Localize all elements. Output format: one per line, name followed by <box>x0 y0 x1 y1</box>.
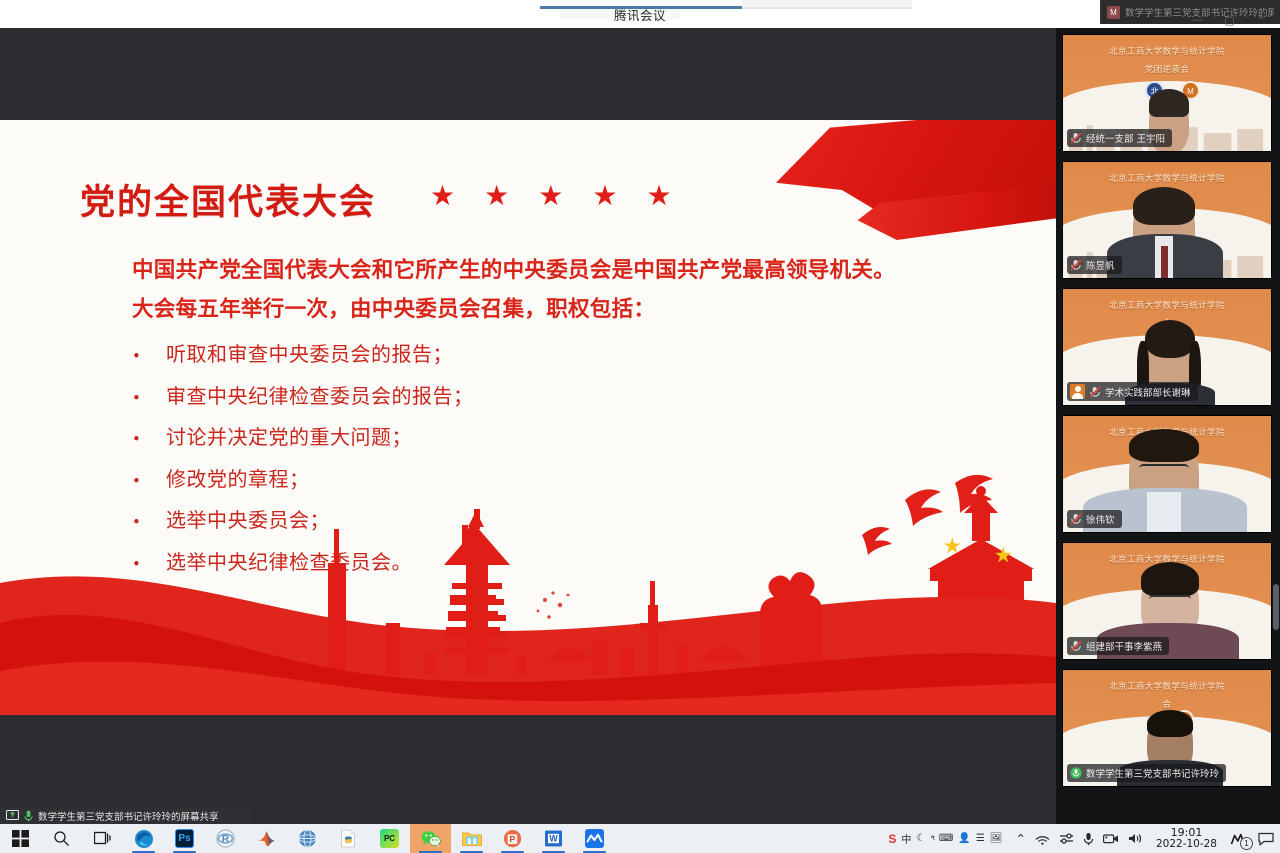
background-window-icon: M <box>1107 6 1120 19</box>
taskbar-apps: Ps R <box>0 824 615 853</box>
list-item-label: 审查中央纪律检查委员会的报告； <box>166 380 474 409</box>
shared-screen-stage: 党的全国代表大会 ★ ★ ★ ★ ★ 中国共产党全国代表大会和它所产生的中央委员… <box>0 28 1056 824</box>
ime-shape-icon[interactable]: °ͭ <box>930 834 934 844</box>
app-title: 腾讯会议 <box>0 5 1280 24</box>
rstudio-app[interactable]: R <box>205 824 246 853</box>
edge-app[interactable] <box>123 824 164 853</box>
list-item-label: 听取和审查中央委员会的报告； <box>166 338 453 367</box>
settings-sliders-icon[interactable] <box>1059 832 1074 845</box>
virtual-bg-title: 北京工商大学数学与统计学院 <box>1063 680 1271 692</box>
volume-icon[interactable] <box>1128 832 1143 845</box>
share-status-text: 数学学生第三党支部书记许玲玲的屏幕共享 <box>38 809 219 823</box>
participant-name-badge: 徐伟钦 <box>1067 510 1122 528</box>
search-button[interactable] <box>41 824 82 853</box>
ime-moon-icon[interactable]: ☾ <box>916 833 925 844</box>
mic-on-icon <box>1070 767 1082 779</box>
start-button[interactable] <box>0 824 41 853</box>
participant-name: 陈昱帆 <box>1086 258 1115 272</box>
windows-start-icon <box>12 830 29 847</box>
participant-name-badge: 组建部干事李紫燕 <box>1067 637 1169 655</box>
mic-muted-icon <box>1070 259 1082 271</box>
star-row: ★ ★ ★ ★ ★ <box>430 182 672 210</box>
search-icon <box>53 830 70 847</box>
notification-count: 1 <box>1240 837 1253 850</box>
mic-on-icon <box>24 810 33 822</box>
powerpoint-app[interactable]: P <box>492 824 533 853</box>
matlab-icon <box>257 829 276 848</box>
minimize-button[interactable]: — <box>1191 14 1202 26</box>
mic-muted-icon <box>1070 640 1082 652</box>
star-icon: ★ <box>538 182 563 210</box>
participant-name: 学术实践部部长谢琳 <box>1105 385 1191 399</box>
file-explorer-app[interactable] <box>451 824 492 853</box>
participant-tile[interactable]: 北京工商大学数学与统计学院 陈昱帆 <box>1062 161 1272 279</box>
word-app[interactable]: W <box>533 824 574 853</box>
windows-taskbar: Ps R <box>0 824 1280 853</box>
mic-muted-icon <box>1070 132 1082 144</box>
ime-menu-icon[interactable]: ☰ <box>976 833 985 844</box>
bullet-icon: • <box>132 389 166 407</box>
ime-toolbar[interactable]: S 中 ☾ °ͭ ⌨ 👤 ☰ 🖼 <box>888 831 1002 846</box>
star-icon: ★ <box>646 182 671 210</box>
microphone-icon[interactable] <box>1083 832 1094 846</box>
star-icon: ★ <box>430 182 455 210</box>
ime-user-icon[interactable]: 👤 <box>958 833 970 844</box>
task-view-button[interactable] <box>82 824 123 853</box>
tray-overflow-button[interactable]: ⌃ <box>1015 831 1025 846</box>
pycharm-app[interactable]: PC <box>369 824 410 853</box>
pycharm-icon: PC <box>380 829 399 848</box>
background-app-strip: 腾讯会议 <box>0 0 1280 28</box>
glasses-icon <box>1139 464 1189 473</box>
ime-keyboard-icon[interactable]: ⌨ <box>939 833 953 844</box>
star-icon: ★ <box>484 182 509 210</box>
tencent-meeting-icon <box>585 829 604 848</box>
photoshop-app[interactable]: Ps <box>164 824 205 853</box>
camera-icon[interactable] <box>1103 833 1119 844</box>
wechat-icon <box>421 830 441 848</box>
task-view-icon <box>94 830 111 847</box>
meeting-window: 党的全国代表大会 ★ ★ ★ ★ ★ 中国共产党全国代表大会和它所产生的中央委员… <box>0 28 1280 824</box>
list-item: • 讨论并决定党的重大问题； <box>132 421 474 463</box>
clock-date: 2022-10-28 <box>1156 839 1217 851</box>
ime-screenshot-icon[interactable]: 🖼 <box>990 833 1003 844</box>
mic-muted-icon <box>1070 513 1082 525</box>
wechat-app[interactable] <box>410 824 451 853</box>
powerpoint-icon: P <box>503 829 522 848</box>
virtual-bg-title: 北京工商大学数学与统计学院 <box>1063 172 1271 184</box>
participant-video-rail[interactable]: 北京工商大学数学与统计学院 党团逆袭会 北 M 经统一支部 王宇阳 <box>1056 28 1280 824</box>
virtual-bg-title: 北京工商大学数学与统计学院 <box>1063 299 1271 311</box>
participant-tie <box>1161 246 1168 278</box>
skyline-illustration <box>0 465 1056 715</box>
edge-icon <box>134 829 154 849</box>
virtual-bg-title: 北京工商大学数学与统计学院 <box>1063 45 1271 57</box>
participant-tile[interactable]: 北京工商大学数学与统计学院 会 M 数学学生第三党支部书记许玲玲 <box>1062 669 1272 787</box>
glasses-icon <box>1149 595 1191 604</box>
participant-shirt <box>1147 492 1181 532</box>
participant-tile[interactable]: 北京工商大学数学与统计学院 徐伟钦 <box>1062 415 1272 533</box>
list-item: • 审查中央纪律检查委员会的报告； <box>132 380 474 422</box>
svg-text:R: R <box>222 834 230 845</box>
virtual-bg-subtitle: 党团逆袭会 <box>1063 63 1271 75</box>
participant-name-badge: 数学学生第三党支部书记许玲玲 <box>1067 764 1226 782</box>
avatar <box>1070 384 1085 399</box>
participant-name: 组建部干事李紫燕 <box>1086 639 1162 653</box>
meeting-tray-icon[interactable]: 1 <box>1230 831 1249 847</box>
virtual-bg-subtitle: 会 <box>1063 698 1271 710</box>
background-window-controls: — ▢ ⌃ <box>1160 12 1280 28</box>
presentation-slide: 党的全国代表大会 ★ ★ ★ ★ ★ 中国共产党全国代表大会和它所产生的中央委员… <box>0 120 1056 715</box>
system-tray: S 中 ☾ °ͭ ⌨ 👤 ☰ 🖼 ⌃ <box>888 824 1280 853</box>
rail-scrollbar[interactable] <box>1273 584 1279 630</box>
share-status-banner: 数学学生第三党支部书记许玲玲的屏幕共享 <box>0 807 252 824</box>
anaconda-app[interactable] <box>328 824 369 853</box>
document-python-icon <box>339 829 358 848</box>
bullet-icon: • <box>132 347 166 365</box>
svg-text:P: P <box>510 834 516 844</box>
participant-tile[interactable]: 北京工商大学数学与统计学院 组建部干事李紫燕 <box>1062 542 1272 660</box>
participant-name: 经统一支部 王宇阳 <box>1086 131 1165 145</box>
tencent-meeting-app[interactable] <box>574 824 615 853</box>
participant-name-badge: 陈昱帆 <box>1067 256 1122 274</box>
matlab-app[interactable] <box>246 824 287 853</box>
sogou-ime-icon[interactable]: S <box>888 832 896 846</box>
globe-icon <box>298 829 317 848</box>
svg-text:W: W <box>549 834 558 844</box>
mic-muted-icon <box>1089 386 1101 398</box>
red-landscape-decoration <box>0 465 1056 715</box>
screen-share-icon <box>6 810 19 821</box>
wifi-icon[interactable] <box>1035 833 1050 845</box>
globe-app[interactable] <box>287 824 328 853</box>
action-center-icon[interactable] <box>1258 832 1274 846</box>
rstudio-icon: R <box>216 829 235 848</box>
photoshop-icon: Ps <box>175 829 194 848</box>
bullet-icon: • <box>132 430 166 448</box>
list-item-label: 讨论并决定党的重大问题； <box>166 421 412 450</box>
list-item: • 听取和审查中央委员会的报告； <box>132 338 474 380</box>
star-icon: ★ <box>592 182 617 210</box>
slide-title: 党的全国代表大会 <box>80 174 376 225</box>
word-icon: W <box>544 829 563 848</box>
clock-time: 19:01 <box>1156 827 1217 839</box>
taskbar-clock[interactable]: 19:01 2022-10-28 <box>1152 827 1221 850</box>
participant-name-badge: 学术实践部部长谢琳 <box>1067 382 1198 401</box>
folder-icon <box>462 830 482 847</box>
slide-paragraph: 大会每五年举行一次，由中央委员会召集，职权包括： <box>132 292 655 323</box>
participant-name-badge: 经统一支部 王宇阳 <box>1067 129 1172 147</box>
close-button[interactable]: ⌃ <box>1257 14 1266 27</box>
ime-mode-icon[interactable]: 中 <box>901 831 911 846</box>
participant-name: 数学学生第三党支部书记许玲玲 <box>1086 766 1219 780</box>
participant-tile[interactable]: 北京工商大学数学与统计学院 会 学术实践部部长谢琳 <box>1062 288 1272 406</box>
slide-paragraph: 中国共产党全国代表大会和它所产生的中央委员会是中国共产党最高领导机关。 <box>132 253 895 284</box>
participant-name: 徐伟钦 <box>1086 512 1115 526</box>
participant-tile[interactable]: 北京工商大学数学与统计学院 党团逆袭会 北 M 经统一支部 王宇阳 <box>1062 34 1272 152</box>
maximize-button[interactable]: ▢ <box>1224 14 1234 27</box>
